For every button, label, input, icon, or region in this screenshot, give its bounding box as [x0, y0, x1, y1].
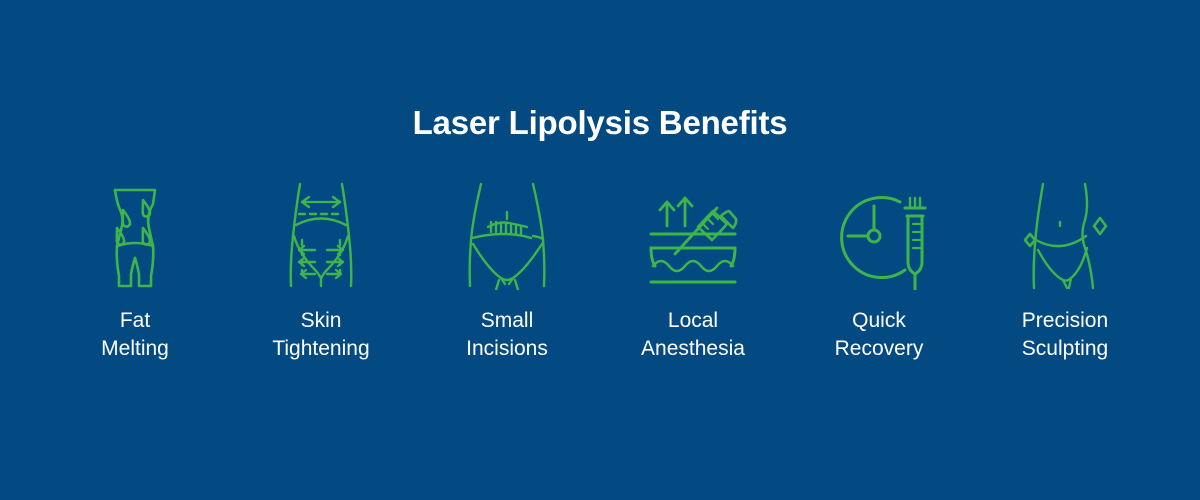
clock-syringe-icon: [827, 178, 931, 290]
benefit-item-skin-tightening[interactable]: Skin Tightening: [228, 178, 414, 363]
torso-fat-droplets-icon: [83, 178, 187, 290]
benefit-label: Skin Tightening: [272, 307, 369, 363]
abdomen-incision-sutures-icon: [455, 178, 559, 290]
benefit-item-local-anesthesia[interactable]: Local Anesthesia: [600, 178, 786, 363]
benefit-label: Small Incisions: [466, 307, 548, 363]
benefit-item-fat-melting[interactable]: Fat Melting: [42, 178, 228, 363]
infographic-canvas: Laser Lipolysis Benefits Fat Melting: [0, 0, 1200, 500]
benefit-item-quick-recovery[interactable]: Quick Recovery: [786, 178, 972, 363]
benefit-label: Local Anesthesia: [641, 307, 745, 363]
benefit-label: Quick Recovery: [835, 307, 924, 363]
benefits-list: Fat Melting Skin Tig: [0, 178, 1200, 363]
skin-layers-syringe-icon: [641, 178, 745, 290]
benefit-item-precision-sculpting[interactable]: Precision Sculpting: [972, 178, 1158, 363]
page-title: Laser Lipolysis Benefits: [0, 103, 1200, 143]
torso-tightening-arrows-icon: [269, 178, 373, 290]
benefit-label: Precision Sculpting: [1022, 307, 1108, 363]
benefit-item-small-incisions[interactable]: Small Incisions: [414, 178, 600, 363]
slim-body-sparkles-icon: [1013, 178, 1117, 290]
benefit-label: Fat Melting: [101, 307, 169, 363]
